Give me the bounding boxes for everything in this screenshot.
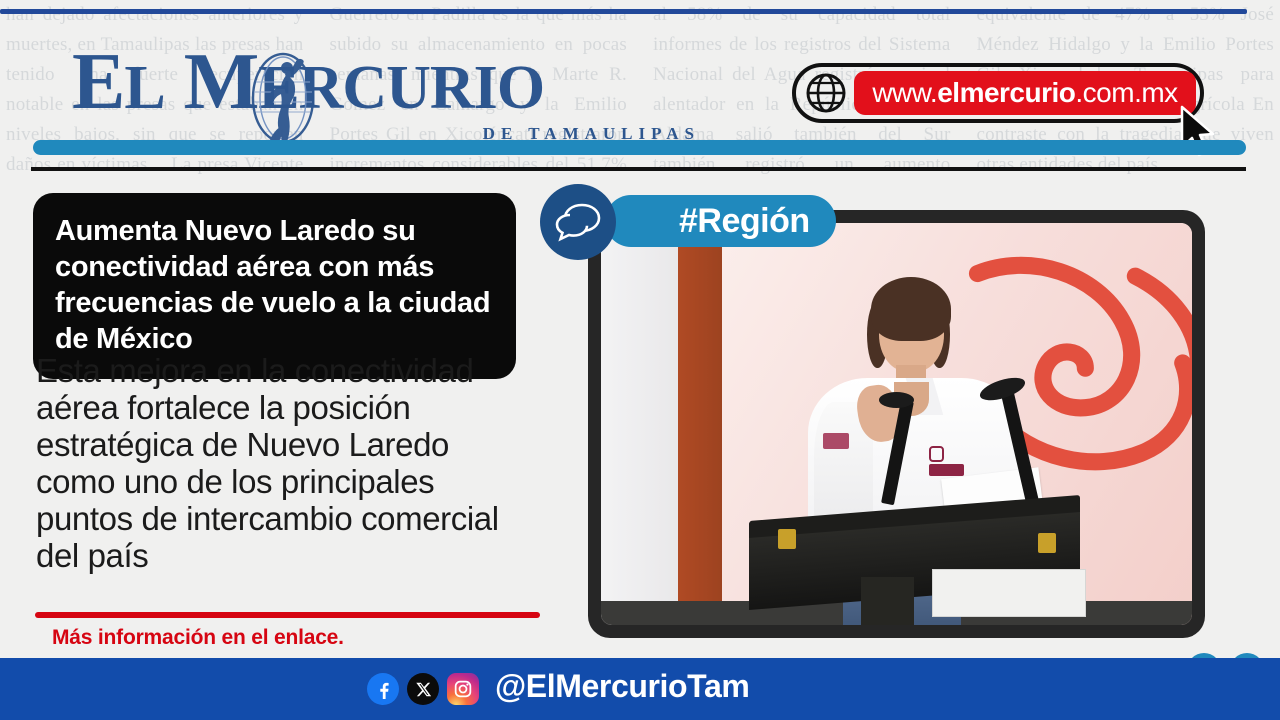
social-footer: @ElMercurioTam xyxy=(0,658,1280,720)
news-photo xyxy=(601,223,1192,625)
photo-backdrop-left xyxy=(601,223,678,625)
top-accent-line xyxy=(0,9,1247,14)
category-badge-circle xyxy=(540,184,616,260)
masthead-header: EL MERCURIO DE TAMAULIPAS xyxy=(0,18,1280,130)
photo-podium-base xyxy=(932,569,1086,617)
category-badge[interactable]: #Región xyxy=(605,195,836,247)
url-domain: elmercurio xyxy=(937,77,1075,109)
speech-bubbles-icon xyxy=(554,201,602,243)
website-url-badge[interactable]: www.elmercurio.com.mx xyxy=(792,63,1204,123)
social-icon-group xyxy=(367,673,479,705)
globe-icon xyxy=(804,71,848,115)
photo-podium-knob-right xyxy=(1038,533,1056,553)
call-to-action-text: Más información en el enlace. xyxy=(52,626,344,650)
photo-backdrop-band xyxy=(678,223,722,625)
instagram-icon[interactable] xyxy=(447,673,479,705)
infographic-page: han dejado afectaciones anteriores y mue… xyxy=(0,0,1280,720)
photo-podium-knob-left xyxy=(778,529,796,549)
social-handle[interactable]: @ElMercurioTam xyxy=(495,668,749,705)
article-subtitle: Esta mejora en la conectividad aérea for… xyxy=(36,352,506,574)
url-pill[interactable]: www.elmercurio.com.mx xyxy=(854,71,1196,115)
brand-logo[interactable]: EL MERCURIO DE TAMAULIPAS xyxy=(72,40,712,140)
blue-divider-bar xyxy=(33,140,1246,155)
facebook-icon[interactable] xyxy=(367,673,399,705)
page-title: Aumenta Nuevo Laredo su conectividad aér… xyxy=(55,213,494,357)
photo-podium-leg xyxy=(861,577,914,625)
url-suffix: .com.mx xyxy=(1075,77,1177,109)
category-badge-label: #Región xyxy=(679,202,810,241)
mercury-figure-emblem-icon xyxy=(240,46,326,150)
photo-microphone-left-head xyxy=(879,392,914,408)
x-twitter-icon[interactable] xyxy=(407,673,439,705)
url-prefix: www. xyxy=(872,77,937,109)
photo-frame xyxy=(588,210,1205,638)
black-divider-rule xyxy=(31,167,1246,171)
red-divider-rule xyxy=(35,612,540,618)
